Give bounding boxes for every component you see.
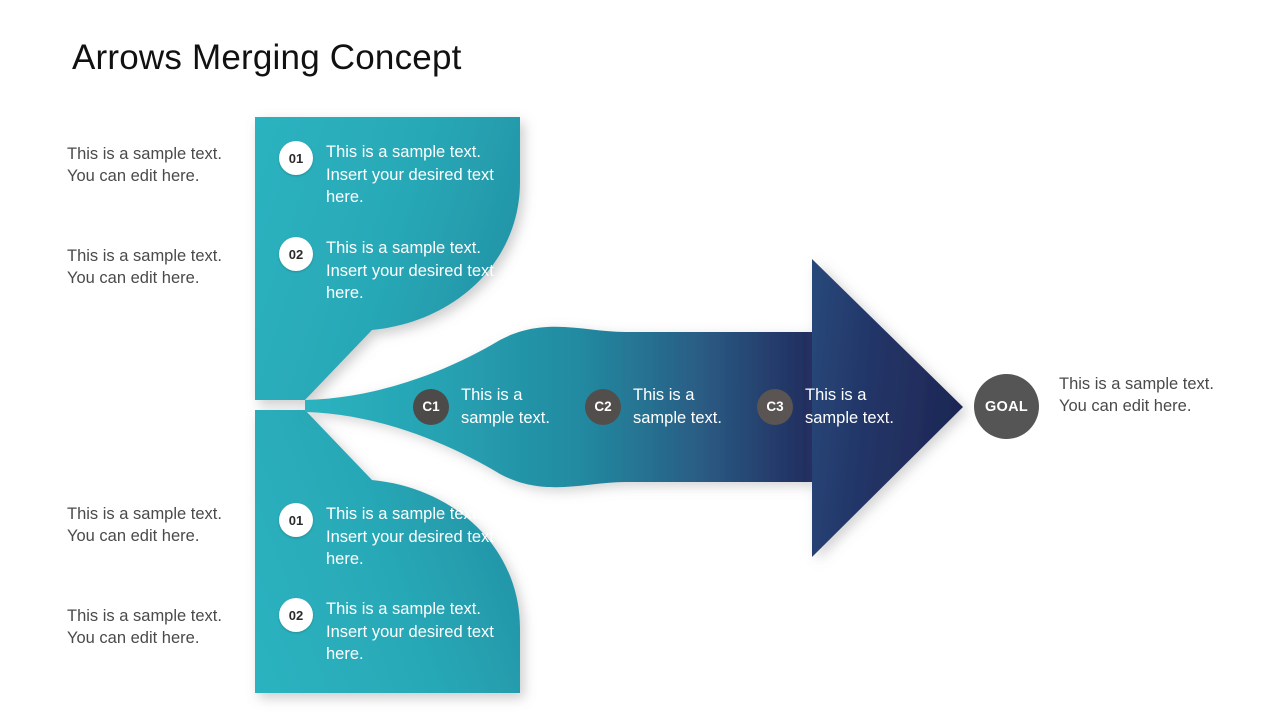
milestone-item-c1[interactable]: C1 This is a sample text.: [413, 384, 573, 429]
goal-badge[interactable]: GOAL: [974, 374, 1039, 439]
milestone-text: This is a sample text.: [633, 384, 745, 429]
top-step-item-02[interactable]: 02 This is a sample text. Insert your de…: [279, 237, 494, 305]
bottom-step-item-01[interactable]: 01 This is a sample text. Insert your de…: [279, 503, 494, 571]
step-text: This is a sample text. Insert your desir…: [326, 598, 494, 666]
side-note-bottom-2: This is a sample text. You can edit here…: [67, 605, 235, 649]
side-note-bottom-1: This is a sample text. You can edit here…: [67, 503, 235, 547]
step-number-badge: 02: [279, 237, 313, 271]
slide-canvas: Arrows Merging Concept: [0, 0, 1280, 720]
milestone-badge: C2: [585, 389, 621, 425]
milestone-text: This is a sample text.: [805, 384, 917, 429]
step-text: This is a sample text. Insert your desir…: [326, 503, 494, 571]
top-step-item-01[interactable]: 01 This is a sample text. Insert your de…: [279, 141, 494, 209]
step-number-badge: 02: [279, 598, 313, 632]
milestone-badge: C1: [413, 389, 449, 425]
milestone-text: This is a sample text.: [461, 384, 573, 429]
side-note-top-1: This is a sample text. You can edit here…: [67, 143, 235, 187]
side-note-top-2: This is a sample text. You can edit here…: [67, 245, 235, 289]
bottom-step-item-02[interactable]: 02 This is a sample text. Insert your de…: [279, 598, 494, 666]
step-number-badge: 01: [279, 503, 313, 537]
step-text: This is a sample text. Insert your desir…: [326, 141, 494, 209]
milestone-badge: C3: [757, 389, 793, 425]
milestone-item-c2[interactable]: C2 This is a sample text.: [585, 384, 745, 429]
step-text: This is a sample text. Insert your desir…: [326, 237, 494, 305]
side-note-goal: This is a sample text. You can edit here…: [1059, 373, 1219, 417]
step-number-badge: 01: [279, 141, 313, 175]
milestone-item-c3[interactable]: C3 This is a sample text.: [757, 384, 917, 429]
